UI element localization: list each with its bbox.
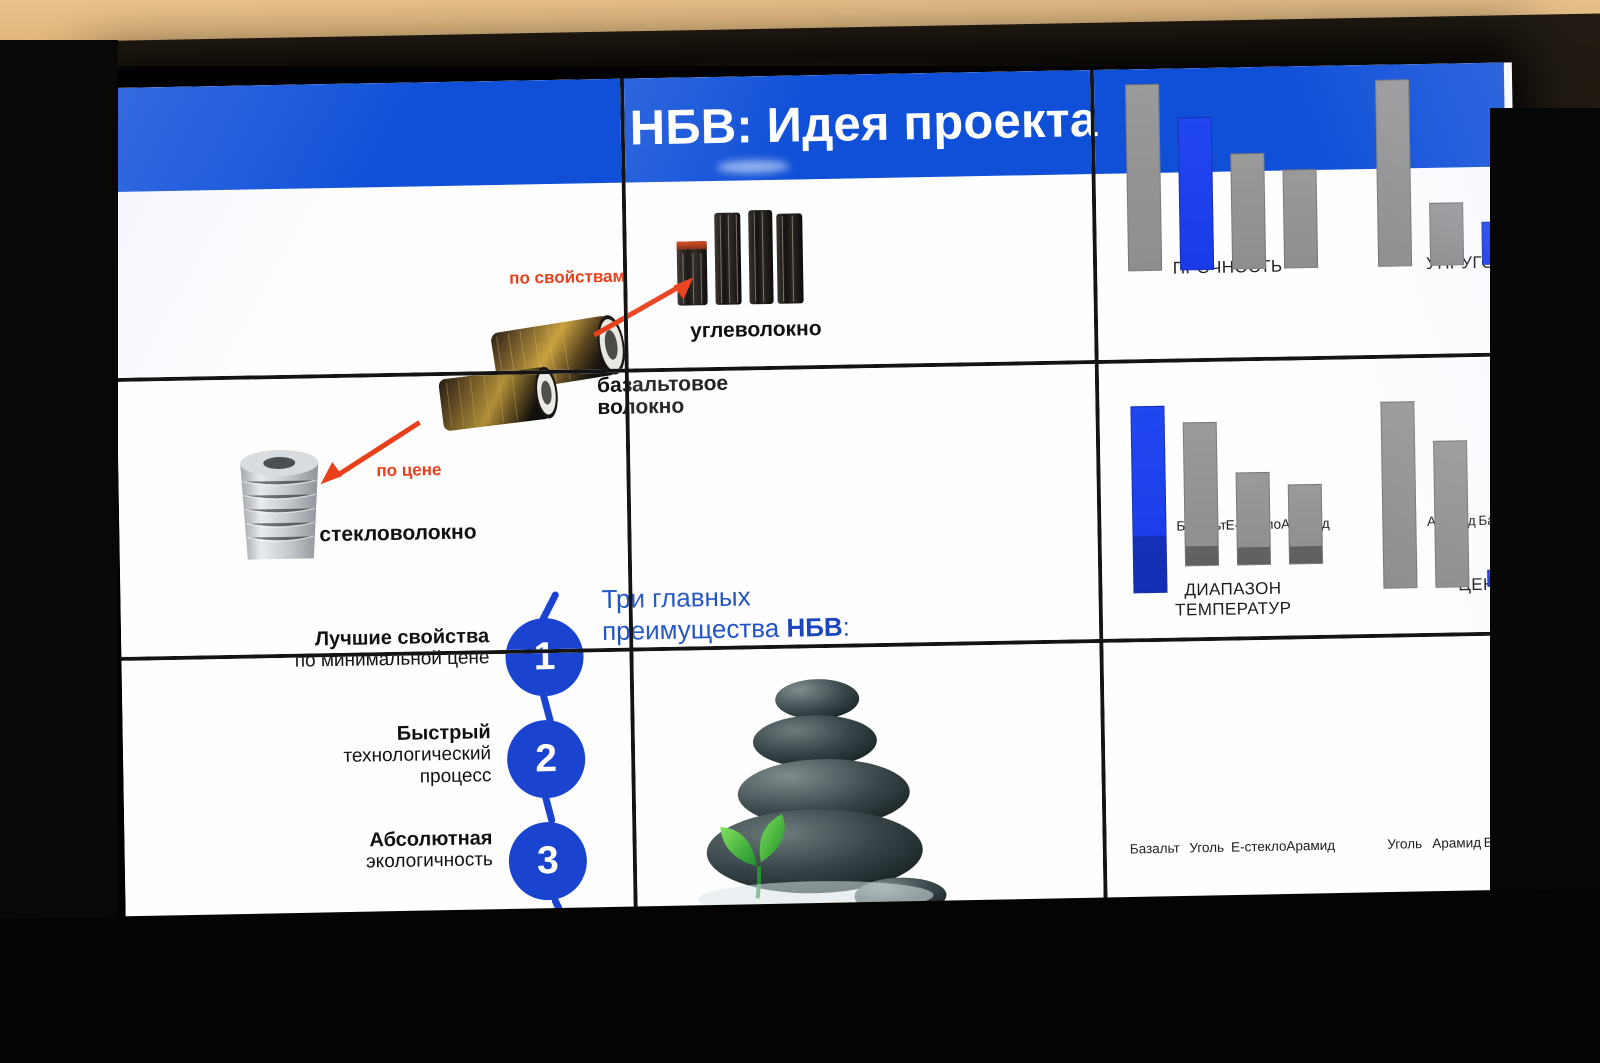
chart-bar [1288, 484, 1323, 565]
advantage-step-1-line2: по минимальной цене [239, 652, 489, 674]
chart-bar [1433, 440, 1469, 588]
chart-axis-label: Уголь [1189, 840, 1224, 856]
presentation-slide: НБВ: Идея проекта [117, 373, 629, 657]
room-scene: НБВ: Идея проекта [0, 0, 1600, 1063]
presentation-slide: НБВ: Идея проекта [112, 79, 625, 378]
chart-bar-lower-segment [1186, 546, 1218, 566]
chart-bar [1380, 401, 1417, 589]
advantage-step-2-line3: процесс [241, 765, 491, 791]
arrow-to-glass-icon [314, 418, 425, 486]
chart-bar-lower-segment [1134, 536, 1167, 593]
basalt-fiber-label: базальтовое волокно [597, 373, 630, 419]
chart-bar-lower-segment [1238, 547, 1270, 565]
advantages-list: Лучшие свойства по минимальной цене 1 Бы… [241, 619, 606, 657]
advantage-step-1: Лучшие свойства по минимальной цене 1 [241, 619, 603, 657]
arrow-to-carbon-icon [624, 275, 700, 339]
advantage-step-1-text: Лучшие свойства по минимальной цене [239, 625, 490, 657]
advantages-heading: Три главных преимущества НБВ: [601, 580, 629, 648]
advantage-step-1-badge: 1 [505, 652, 584, 697]
arrow-to-carbon-icon [589, 275, 625, 339]
chart-axis-label: Арамид [1286, 838, 1335, 854]
display-panel-r2c1: НБВ: Идея проекта [117, 373, 629, 657]
display-panel-r2c2: НБВ: Идея проекта [629, 364, 1099, 648]
display-panel-r2c3: НБВ: Идея проекта [1099, 356, 1521, 639]
chart-bar [1125, 84, 1162, 272]
room-left-dark [0, 40, 118, 1063]
display-panel-r1c3: НБВ: Идея проекта [1094, 62, 1517, 360]
advantages-list: Лучшие свойства по минимальной цене 1 Бы… [241, 652, 606, 926]
slide-title-bar [112, 79, 625, 192]
slide-title: НБВ: Идея проекта [1094, 92, 1098, 157]
chart-bar [1236, 472, 1272, 566]
display-panel-r1c1: НБВ: Идея проекта [112, 79, 625, 378]
video-wall: НБВ: Идея проекта [112, 62, 1519, 987]
chart-bar [1178, 117, 1215, 271]
advantages-heading-line2: преимущества [629, 612, 787, 645]
presentation-slide: НБВ: Идея проекта [1094, 62, 1517, 359]
basalt-label-line2: волокно [629, 395, 685, 420]
glass-fiber-label: стекловолокно [319, 521, 476, 546]
presentation-slide: НБВ: Идея проекта [624, 70, 1095, 369]
advantages-heading-line1: Три главных [601, 581, 629, 614]
chart-axis-label: Арамид [1432, 835, 1481, 851]
presentation-slide: НБВ: Идея проекта [1099, 356, 1519, 639]
presentation-slide: НБВ: Идея проекта [629, 364, 1099, 648]
chart-temperature-range: ДИАПАЗОН ТЕМПЕРАТУР БазальтУгольE-стекло… [1125, 578, 1344, 639]
video-wall-grid: НБВ: Идея проекта [112, 62, 1519, 987]
chart-bar [1230, 153, 1266, 270]
display-panel-r1c2: НБВ: Идея проекта [624, 70, 1095, 369]
chart-bar [1183, 422, 1219, 567]
chart-temperature-range: ДИАПАЗОН ТЕМПЕРАТУР БазальтУгольE-стекло… [1125, 635, 1344, 831]
carbon-fiber-label: углеволокно [690, 318, 822, 342]
chart-axis-label: E-стекло [1231, 839, 1287, 855]
chart-bar [1130, 406, 1167, 594]
advantages-heading-line2: преимущества [602, 612, 630, 645]
wall-left [0, 0, 260, 42]
advantage-step-2-text: Быстрый технологический процесс [241, 721, 492, 790]
advantage-step-1-badge: 1 [505, 617, 584, 656]
chart-bar [1375, 79, 1412, 267]
chart-axis-label: Уголь [1387, 836, 1422, 852]
basalt-fiber-label: базальтовое волокно [629, 373, 729, 419]
advantages-heading-brand: НБВ [786, 611, 843, 642]
slide-title: НБВ: Идея проекта [629, 92, 1094, 157]
chart-bar [1283, 169, 1319, 269]
chart-bar [1429, 202, 1464, 266]
chart-bar-lower-segment [1290, 546, 1322, 564]
basalt-label-line1: базальтовое [629, 372, 729, 397]
advantages-heading-line1: Три главных [629, 581, 751, 614]
basalt-label-line1: базальтовое [597, 373, 630, 398]
chart-strength-plot: УгольБазальтE-стеклоАрамид [1121, 290, 1336, 294]
zen-stones-image [662, 663, 966, 938]
chart-axis-label: Базальт [1130, 841, 1180, 857]
advantage-step-3-text: Абсолютная экологичность [242, 827, 493, 875]
advantage-step-1-text: Лучшие свойства по минимальной цене [239, 652, 490, 674]
advantage-step-3-line2: экологичность [243, 850, 493, 876]
basalt-label-line2: волокно [597, 395, 629, 420]
advantage-step-2-badge: 2 [507, 719, 586, 798]
advantages-heading-colon: : [842, 611, 850, 641]
chart-strength: ПРОЧНОСТЬ УгольБазальтE-стеклоАрамид [1120, 256, 1339, 360]
annotation-by-properties: по свойствам [624, 267, 625, 289]
advantages-heading: Три главных преимущества НБВ: [629, 580, 850, 648]
advantage-step-3-badge: 3 [508, 821, 587, 900]
